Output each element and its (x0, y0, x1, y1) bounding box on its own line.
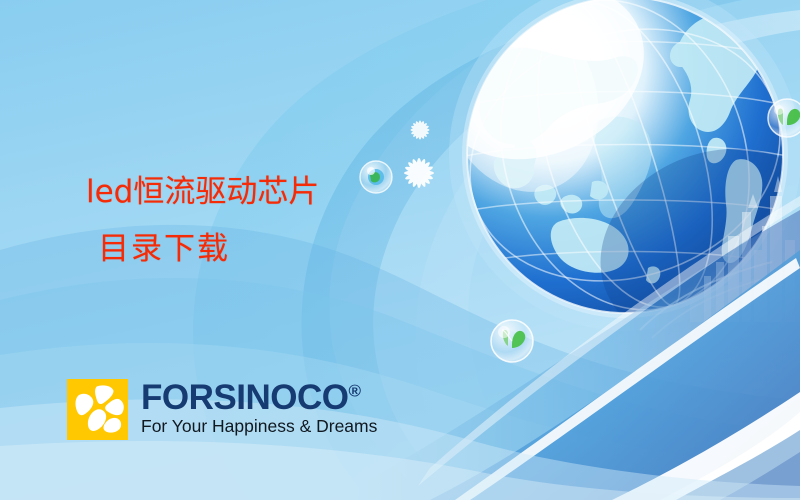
headline-line-1: led恒流驱动芯片 (86, 174, 319, 210)
promo-banner: led恒流驱动芯片 目录下载 FORSINOCO® For Your Happi… (0, 0, 800, 500)
logo-mark (67, 379, 128, 440)
bubble-globe-small (360, 161, 392, 193)
white-flower-burst (404, 120, 434, 188)
earth-globe (407, 0, 800, 379)
brand-tagline: For Your Happiness & Dreams (141, 416, 377, 437)
diagonal-corner-bands (330, 196, 800, 500)
brand-name-text: FORSINOCO (141, 378, 348, 417)
city-skyline-silhouette (690, 176, 800, 322)
brand-name: FORSINOCO® (141, 380, 377, 415)
headline-line-2: 目录下载 (98, 221, 319, 278)
page-title: led恒流驱动芯片 目录下载 (86, 164, 319, 278)
registered-trademark-icon: ® (348, 381, 360, 400)
skyline-light-streak (640, 262, 790, 338)
bubble-leaf (491, 320, 533, 362)
brand-logo: FORSINOCO® For Your Happiness & Dreams (67, 379, 377, 440)
four-petal-flower-icon (67, 379, 128, 440)
logo-text-block: FORSINOCO® For Your Happiness & Dreams (141, 380, 377, 437)
bubble-leaf-edge (768, 99, 800, 137)
